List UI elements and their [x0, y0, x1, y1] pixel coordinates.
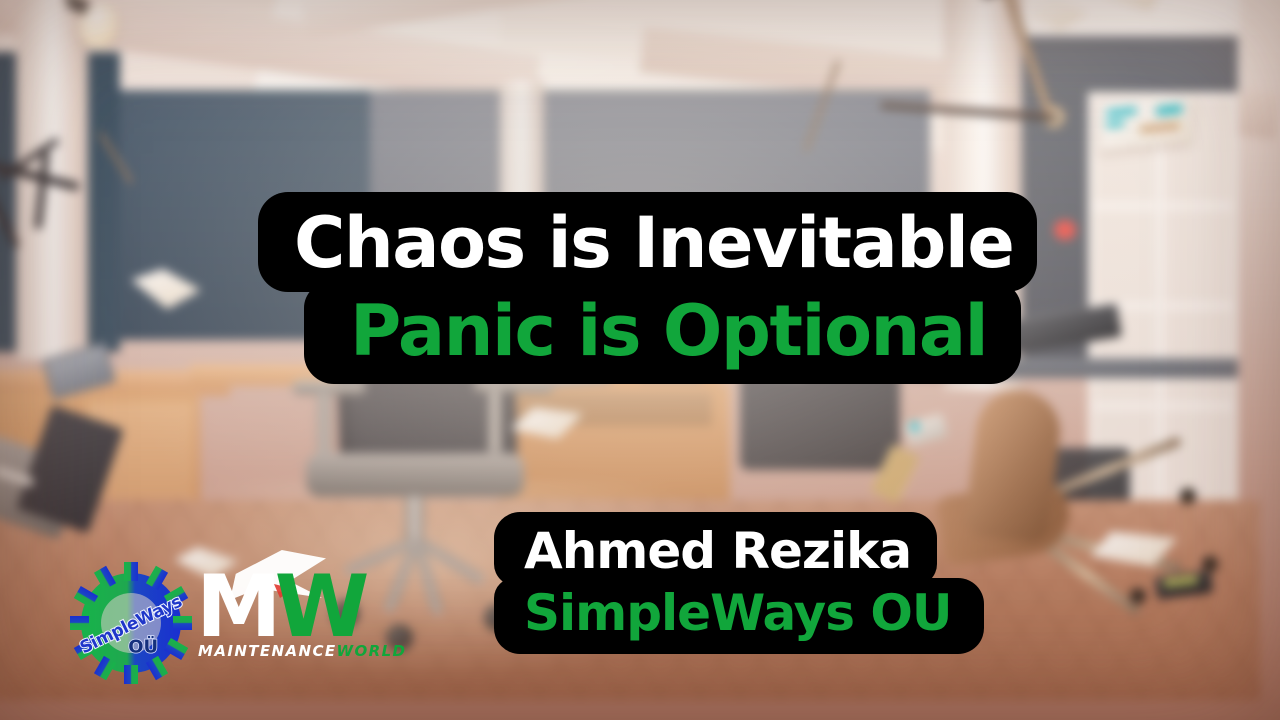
mw-subtitle: MAINTENANCEWORLD — [198, 642, 406, 660]
mw-subtitle-world: WORLD — [337, 642, 407, 660]
office-chair-seat — [306, 453, 524, 497]
office-chair-armrest-stem — [317, 392, 331, 454]
speaker-name-box: Ahmed Rezika — [494, 512, 937, 586]
speaker-organization: SimpleWays OU — [524, 588, 952, 638]
gear-logo-suffix: OÜ — [128, 637, 158, 658]
wooden-chair-foot — [1202, 556, 1218, 572]
wooden-chair-foot — [1130, 588, 1146, 604]
speaker-block: Ahmed Rezika SimpleWays OU — [494, 512, 984, 654]
title-block: Chaos is Inevitable Panic is Optional — [258, 192, 1037, 384]
flying-document — [1099, 95, 1192, 151]
tipped-furniture-left — [0, 136, 100, 256]
title-line2-box: Panic is Optional — [304, 282, 1021, 384]
office-chair-armrest-stem — [488, 390, 502, 452]
speaker-organization-box: SimpleWays OU — [494, 578, 984, 654]
simpleways-gear-logo: SimpleWays OÜ — [70, 562, 192, 684]
presentation-slide: Chaos is Inevitable Panic is Optional Ah… — [0, 0, 1280, 720]
red-dot — [1054, 220, 1076, 240]
speaker-name: Ahmed Rezika — [524, 526, 911, 576]
maintenance-world-logo: MW MAINTENANCEWORLD — [196, 556, 382, 676]
title-line1-box: Chaos is Inevitable — [258, 192, 1037, 292]
title-line2: Panic is Optional — [350, 296, 987, 366]
wooden-chair-foot — [1180, 488, 1196, 504]
title-line1: Chaos is Inevitable — [294, 208, 1013, 278]
mw-subtitle-maintenance: MAINTENANCE — [198, 642, 337, 660]
mw-letters: MW — [196, 564, 382, 650]
